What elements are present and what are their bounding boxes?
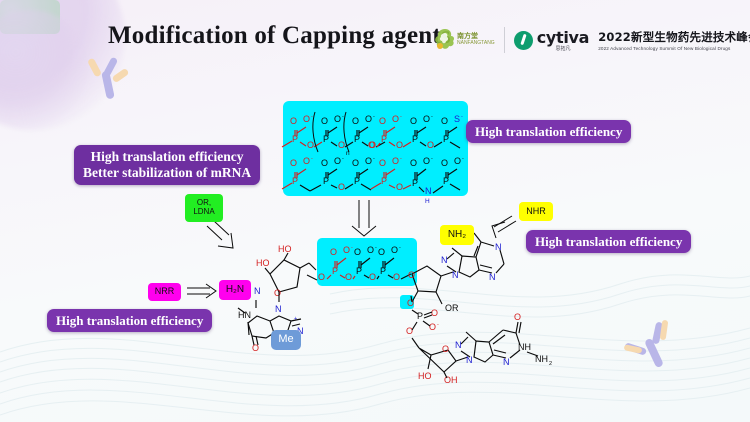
svg-text:2: 2 (549, 361, 552, 367)
svg-text:N: N (441, 255, 448, 265)
logo-divider (504, 27, 505, 53)
svg-text:O: O (429, 322, 436, 332)
svg-text:O: O (274, 288, 281, 298)
callout-left-top: High translation efficiency Better stabi… (74, 145, 260, 185)
callout-right-top: High translation efficiency (466, 120, 631, 143)
callout-right-mid: High translation efficiency (526, 230, 691, 253)
summit-title-cn: 2022新型生物药先进技术峰会 (598, 29, 750, 45)
callout-left-top-line1: High translation efficiency (83, 149, 251, 165)
page-title: Modification of Capping agents (108, 22, 451, 50)
partner-logo: 南方堂 NANFANGTANG (434, 27, 495, 53)
highlight-panel-phosphate-variants (283, 101, 468, 196)
svg-text:N: N (452, 270, 459, 280)
callout-left-top-line2: Better stabilization of mRNA (83, 165, 251, 181)
tag-nh2[interactable]: NH₂ (440, 225, 474, 245)
tag-or-ldna[interactable]: OR, LDNA (185, 194, 223, 222)
summit-logo: 2022新型生物药先进技术峰会 2022 Advanced Technology… (598, 29, 750, 51)
svg-text:N: N (275, 304, 282, 314)
svg-text:P: P (417, 311, 423, 321)
structure-adenosine: O OR N N N N (408, 233, 504, 313)
svg-text:HN: HN (238, 310, 251, 320)
svg-text:HO: HO (256, 258, 270, 268)
svg-text:OH: OH (444, 375, 458, 385)
cytiva-logo: cytiva 思拓凡 (514, 28, 589, 52)
tag-nrr[interactable]: NRR (148, 283, 181, 301)
partner-name-en: NANFANGTANG (457, 41, 495, 47)
partner-logo-text: 南方堂 NANFANGTANG (457, 33, 495, 46)
svg-text:N: N (466, 355, 473, 365)
summit-title-en: 2022 Advanced Technology Summit Of New B… (598, 46, 750, 51)
svg-text:NH: NH (535, 354, 548, 364)
svg-text:HO: HO (278, 244, 292, 254)
tag-nhr[interactable]: NHR (519, 202, 553, 221)
highlight-panel-triphosphate (317, 238, 417, 286)
svg-text:-: - (437, 322, 439, 328)
highlight-panel-linker (400, 295, 414, 309)
svg-text:O: O (514, 312, 521, 322)
svg-text:HO: HO (418, 371, 432, 381)
svg-text:N: N (455, 340, 462, 350)
svg-text:N: N (503, 357, 510, 367)
callout-left-bottom: High translation efficiency (47, 309, 212, 332)
svg-text:N: N (254, 286, 261, 296)
logo-bar: 南方堂 NANFANGTANG cytiva 思拓凡 2022新型生物药先进技术… (434, 22, 750, 58)
svg-text:O: O (406, 326, 413, 336)
tag-me[interactable]: Me (271, 330, 301, 350)
svg-text:N: N (495, 242, 502, 252)
svg-text:O: O (431, 308, 438, 318)
svg-text:OR: OR (445, 303, 459, 313)
svg-text:N: N (489, 272, 496, 282)
tag-or-ldna-line2: LDNA (193, 208, 214, 217)
svg-text:+: + (294, 316, 297, 322)
svg-text:H: H (425, 198, 430, 205)
structure-guanosine-linker: O P O O- O O HO OH N N (406, 296, 552, 385)
leaf-icon (434, 27, 456, 53)
tag-h2n[interactable]: H₂N (219, 280, 251, 300)
slide-canvas: Modification of Capping agents 南方堂 NANFA… (0, 0, 750, 422)
antibody-icon-right (628, 318, 680, 372)
cytiva-mark-icon (514, 31, 533, 50)
svg-text:O: O (442, 344, 449, 354)
svg-text:NH: NH (518, 342, 531, 352)
svg-text:O: O (252, 343, 259, 353)
